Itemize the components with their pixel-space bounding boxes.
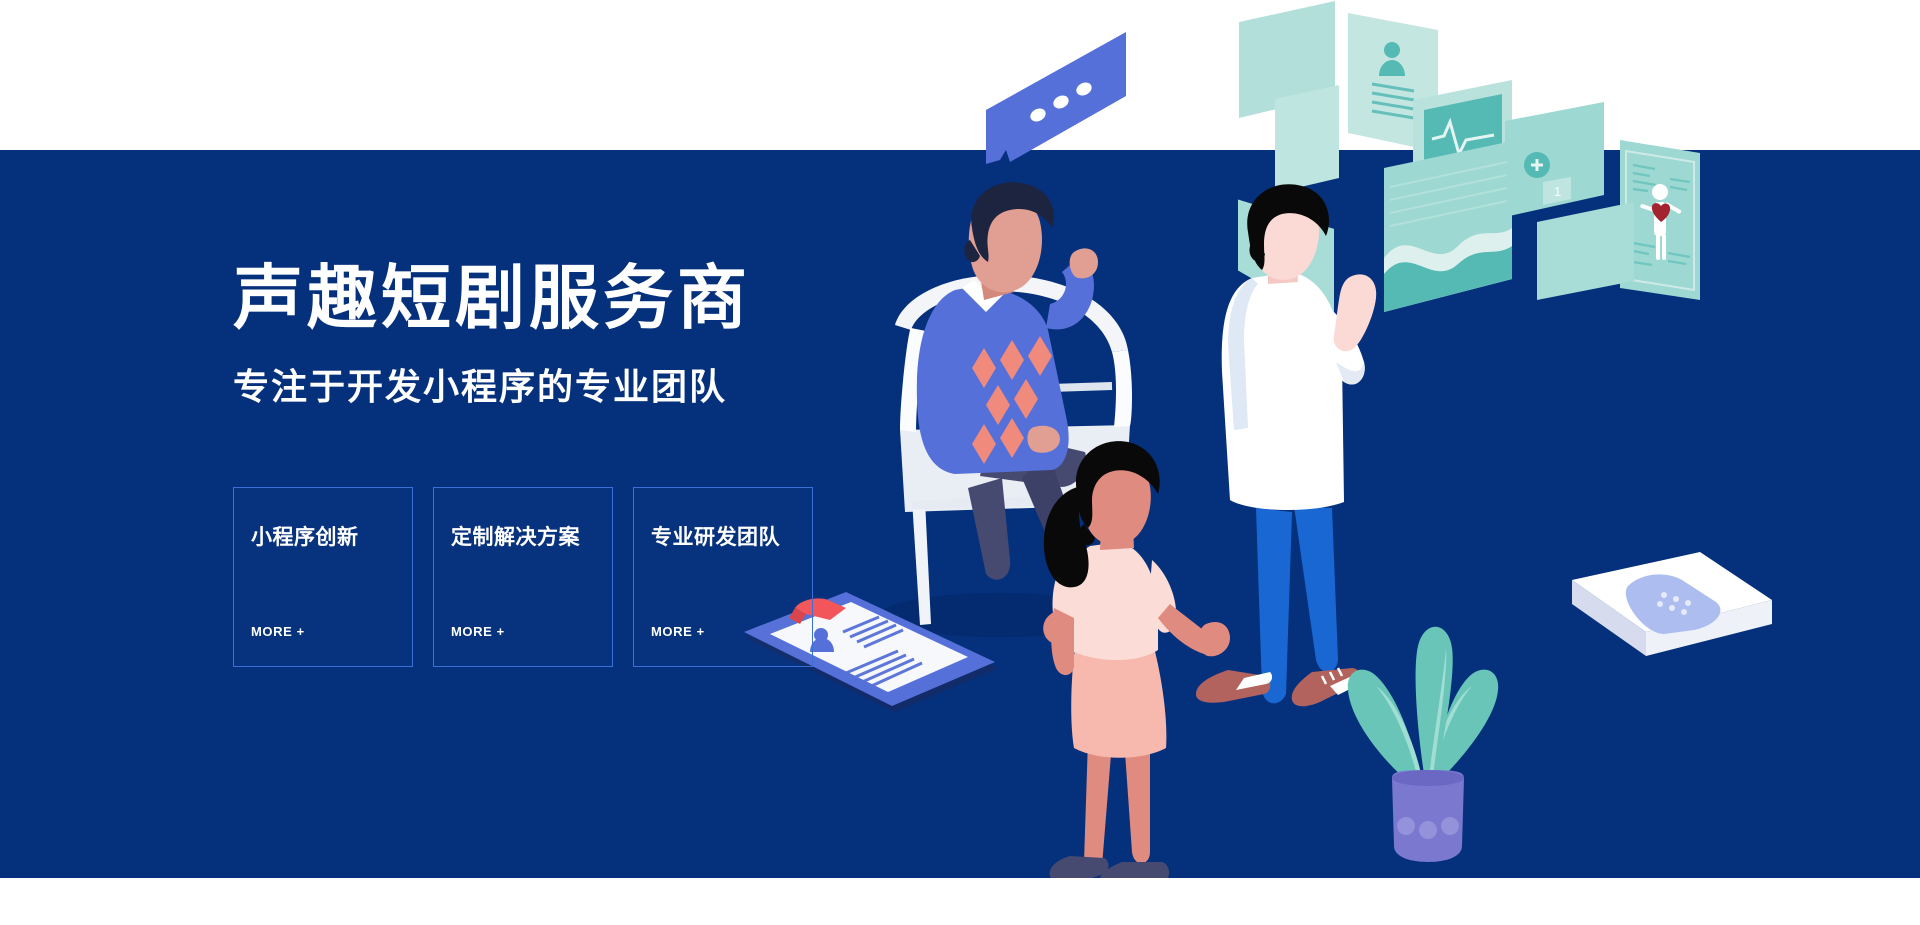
more-link[interactable]: MORE + [451, 624, 505, 639]
feature-card-list: 小程序创新 MORE + 定制解决方案 MORE + 专业研发团队 MORE + [233, 487, 813, 667]
bottom-white-band [0, 878, 1920, 925]
feature-card-title: 专业研发团队 [651, 521, 780, 551]
feature-card-title: 小程序创新 [251, 521, 359, 551]
more-link[interactable]: MORE + [651, 624, 705, 639]
top-white-band [0, 0, 1920, 150]
hero-text-block: 声趣短剧服务商 专注于开发小程序的专业团队 [233, 262, 751, 410]
more-link[interactable]: MORE + [251, 624, 305, 639]
feature-card-2[interactable]: 专业研发团队 MORE + [633, 487, 813, 667]
banner-stage: 1 [0, 0, 1920, 925]
feature-card-title: 定制解决方案 [451, 521, 580, 551]
page-title: 声趣短剧服务商 [233, 262, 751, 336]
feature-card-1[interactable]: 定制解决方案 MORE + [433, 487, 613, 667]
feature-card-0[interactable]: 小程序创新 MORE + [233, 487, 413, 667]
page-subtitle: 专注于开发小程序的专业团队 [233, 358, 751, 410]
